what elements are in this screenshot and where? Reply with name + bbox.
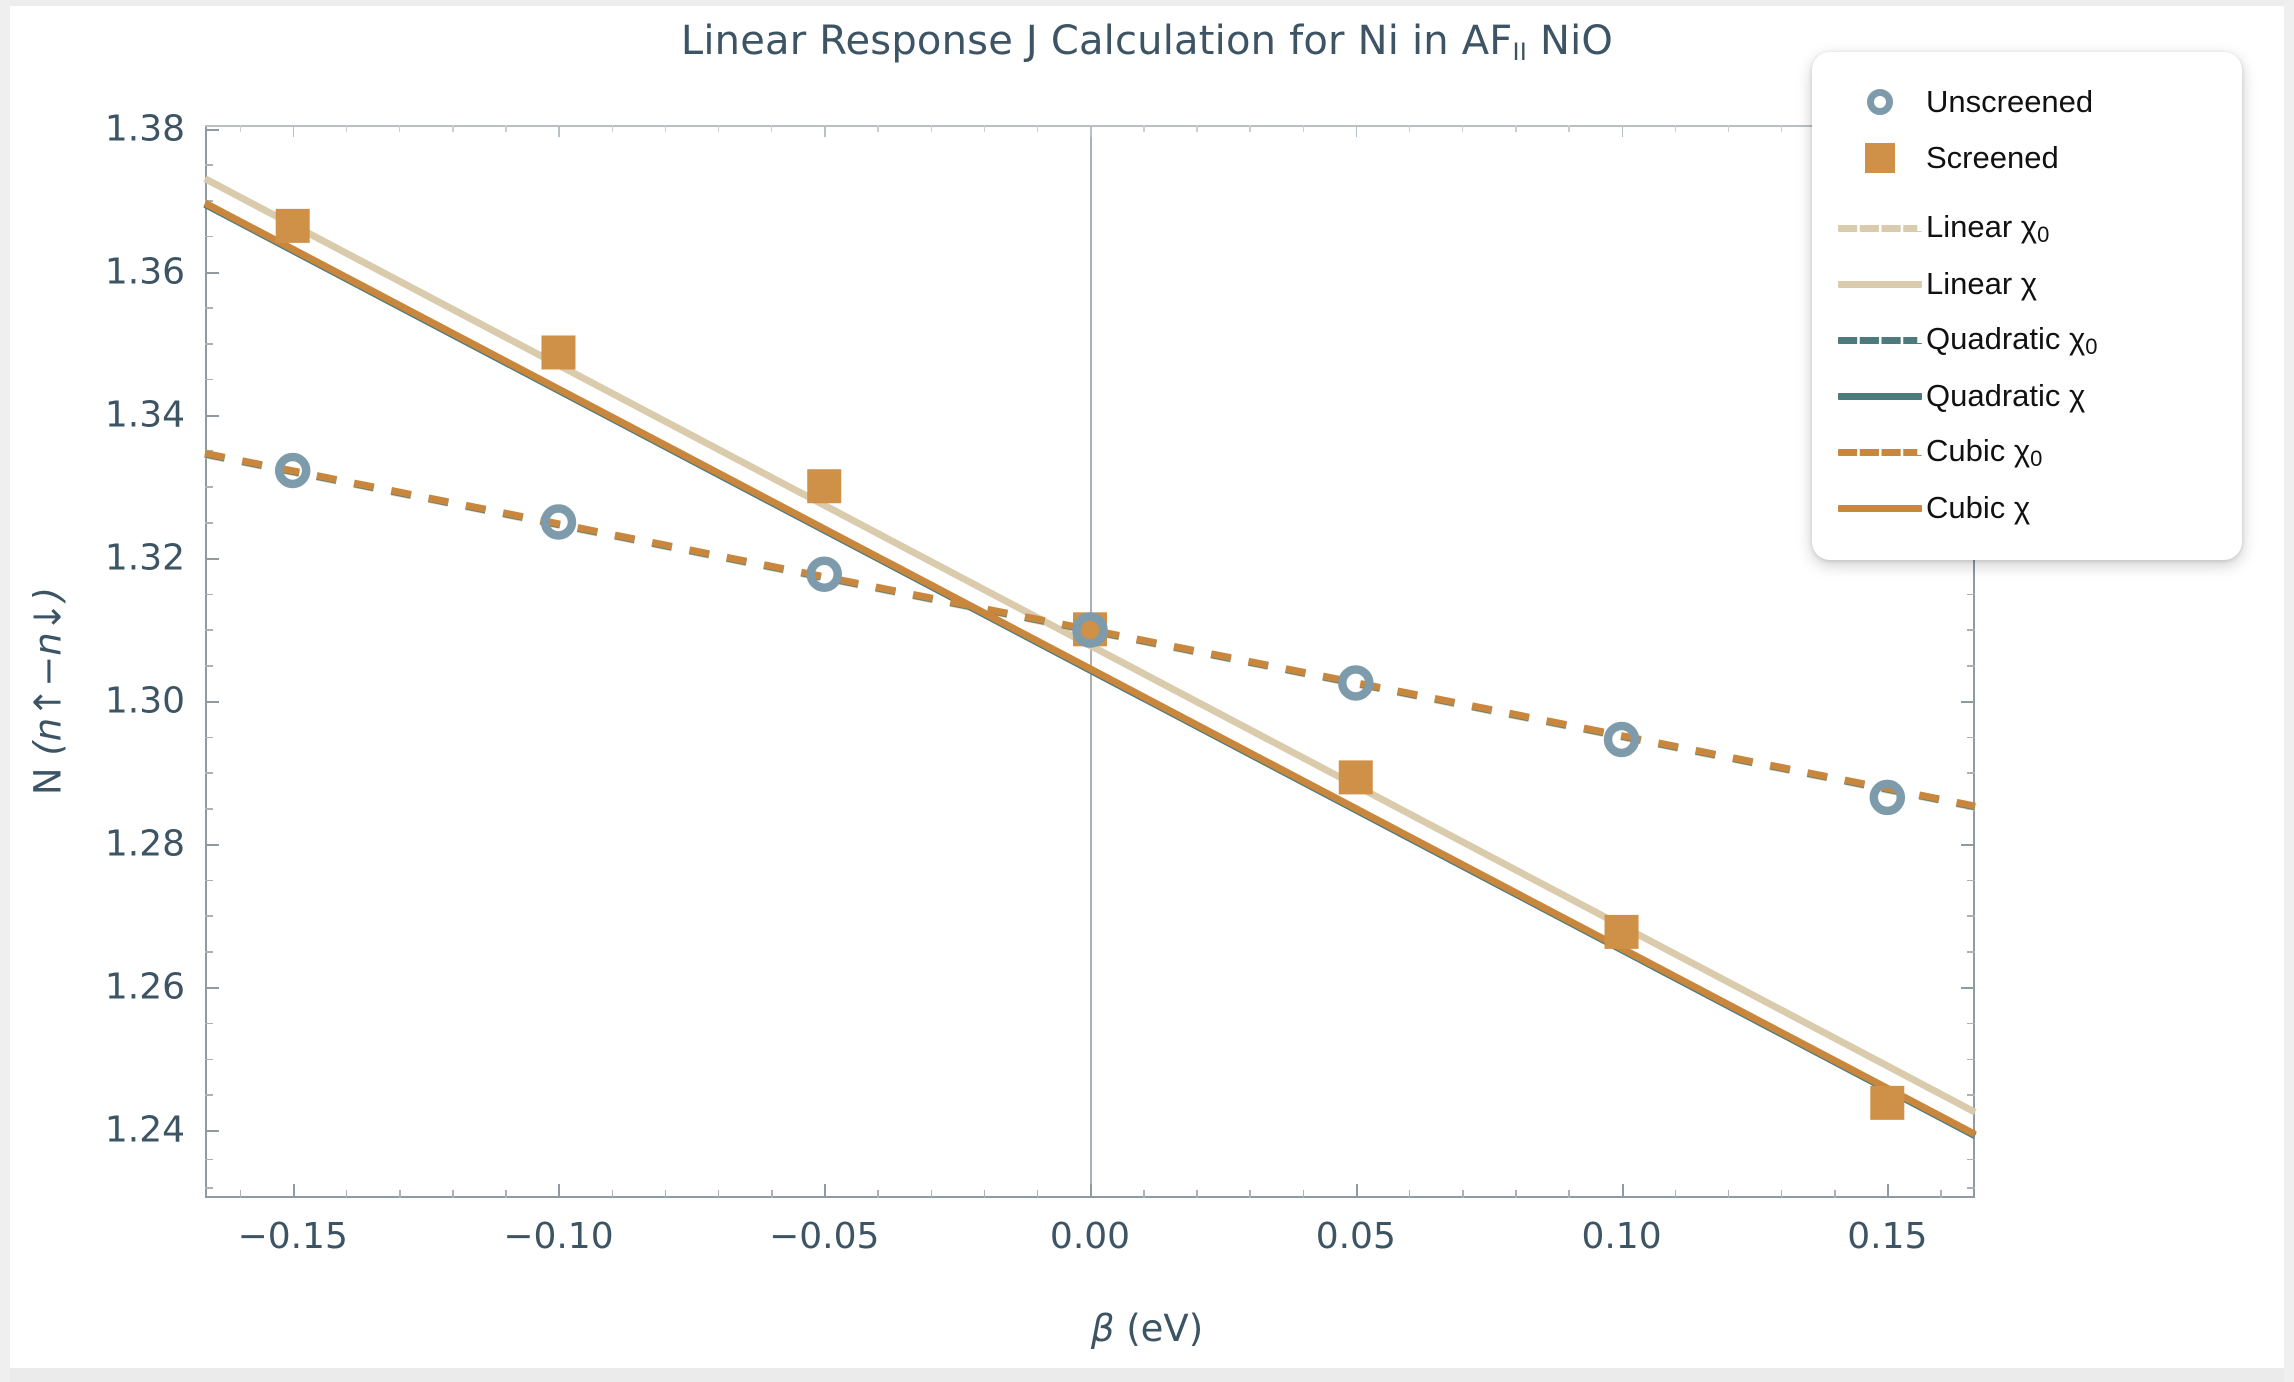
screened-marker [807,469,841,503]
screened-marker [1870,1086,1904,1120]
page-edge-right [2284,0,2294,1382]
data-series-layer [205,125,1975,1198]
screened-marker [1339,760,1373,794]
legend-dashed-line-icon [1838,225,1922,232]
chart-title-tail: NiO [1527,18,1613,64]
legend-item-label: Screened [1926,140,2059,176]
legend-item-quadratic---0[interactable]: Quadratic χ0 [1834,312,2222,368]
y-tick-label: 1.38 [105,108,185,149]
x-tick-label: 0.10 [1581,1216,1661,1257]
legend-item-cubic---0[interactable]: Cubic χ0 [1834,424,2222,480]
x-tick-label: 0.05 [1316,1216,1396,1257]
legend-item-subscript: 0 [2085,334,2097,359]
y-axis-title: N (n↑−n↓) [27,587,70,795]
chart-title-main: Linear Response J Calculation for Ni in … [681,18,1513,64]
unscreened-marker [811,561,838,588]
legend-item-label: Linear χ [1926,266,2037,302]
y-axis-title-N: N [27,767,70,795]
legend-item-label: Cubic χ [1926,490,2030,526]
screened-marker [276,209,310,243]
x-axis-title-units: (eV) [1126,1307,1203,1350]
legend-circle-icon [1867,89,1893,115]
y-tick-label: 1.36 [105,251,185,292]
y-axis-title-expr: (n↑−n↓) [27,587,70,756]
legend-item-subscript: 0 [2030,446,2042,471]
legend-item-label: Cubic χ0 [1926,433,2042,472]
legend-marker-square [1834,143,1926,173]
legend-solid-line-icon [1838,393,1922,400]
x-tick-label: −0.10 [503,1216,613,1257]
x-axis-title-beta: β [1091,1307,1115,1350]
legend-item-linear--[interactable]: Linear χ [1834,256,2222,312]
y-tick-label: 1.30 [105,680,185,721]
legend-marker-solid-line [1834,281,1926,288]
legend-marker-solid-line [1834,393,1926,400]
legend-item-label: Quadratic χ [1926,378,2085,414]
legend-item-linear---0[interactable]: Linear χ0 [1834,200,2222,256]
legend-item-quadratic--[interactable]: Quadratic χ [1834,368,2222,424]
legend-marker-dashed-line [1834,449,1926,456]
legend-item-label: Quadratic χ0 [1926,321,2098,360]
legend-marker-solid-line [1834,505,1926,512]
unscreened-marker [1874,784,1901,811]
legend-square-icon [1865,143,1895,173]
y-tick-label: 1.24 [105,1110,185,1151]
page-edge-top [0,0,2294,6]
x-tick-label: 0.15 [1847,1216,1927,1257]
x-axis-title: β (eV) [1091,1307,1203,1350]
legend-item-cubic--[interactable]: Cubic χ [1834,480,2222,536]
y-tick-label: 1.32 [105,537,185,578]
screened-marker [541,335,575,369]
page-edge-bottom [0,1368,2294,1382]
x-tick-label: −0.05 [769,1216,879,1257]
legend-item-unscreened[interactable]: Unscreened [1834,74,2222,130]
y-tick-label: 1.28 [105,823,185,864]
legend-dashed-line-icon [1838,337,1922,344]
chart-legend[interactable]: UnscreenedScreenedLinear χ0Linear χQuadr… [1812,52,2242,560]
legend-item-subscript: 0 [2037,222,2049,247]
plot-area: 1.241.261.281.301.321.341.361.38 −0.15−0… [205,125,1975,1198]
legend-marker-dashed-line [1834,225,1926,232]
legend-dashed-line-icon [1838,449,1922,456]
page-edge-left [0,0,10,1382]
legend-marker-dashed-line [1834,337,1926,344]
legend-item-label: Unscreened [1926,84,2093,120]
chart-title-subscript: II [1513,38,1528,66]
legend-solid-line-icon [1838,505,1922,512]
fit-line-cubic-- [205,203,1975,1134]
y-tick-label: 1.26 [105,966,185,1007]
legend-solid-line-icon [1838,281,1922,288]
legend-item-label: Linear χ0 [1926,209,2049,248]
legend-item-screened[interactable]: Screened [1834,130,2222,186]
legend-marker-circle [1834,89,1926,115]
y-tick-label: 1.34 [105,394,185,435]
x-tick-label: −0.15 [238,1216,348,1257]
unscreened-marker [1342,669,1369,696]
x-tick-label: 0.00 [1050,1216,1130,1257]
screened-marker [1605,915,1639,949]
chart-page: Linear Response J Calculation for Ni in … [0,0,2294,1382]
